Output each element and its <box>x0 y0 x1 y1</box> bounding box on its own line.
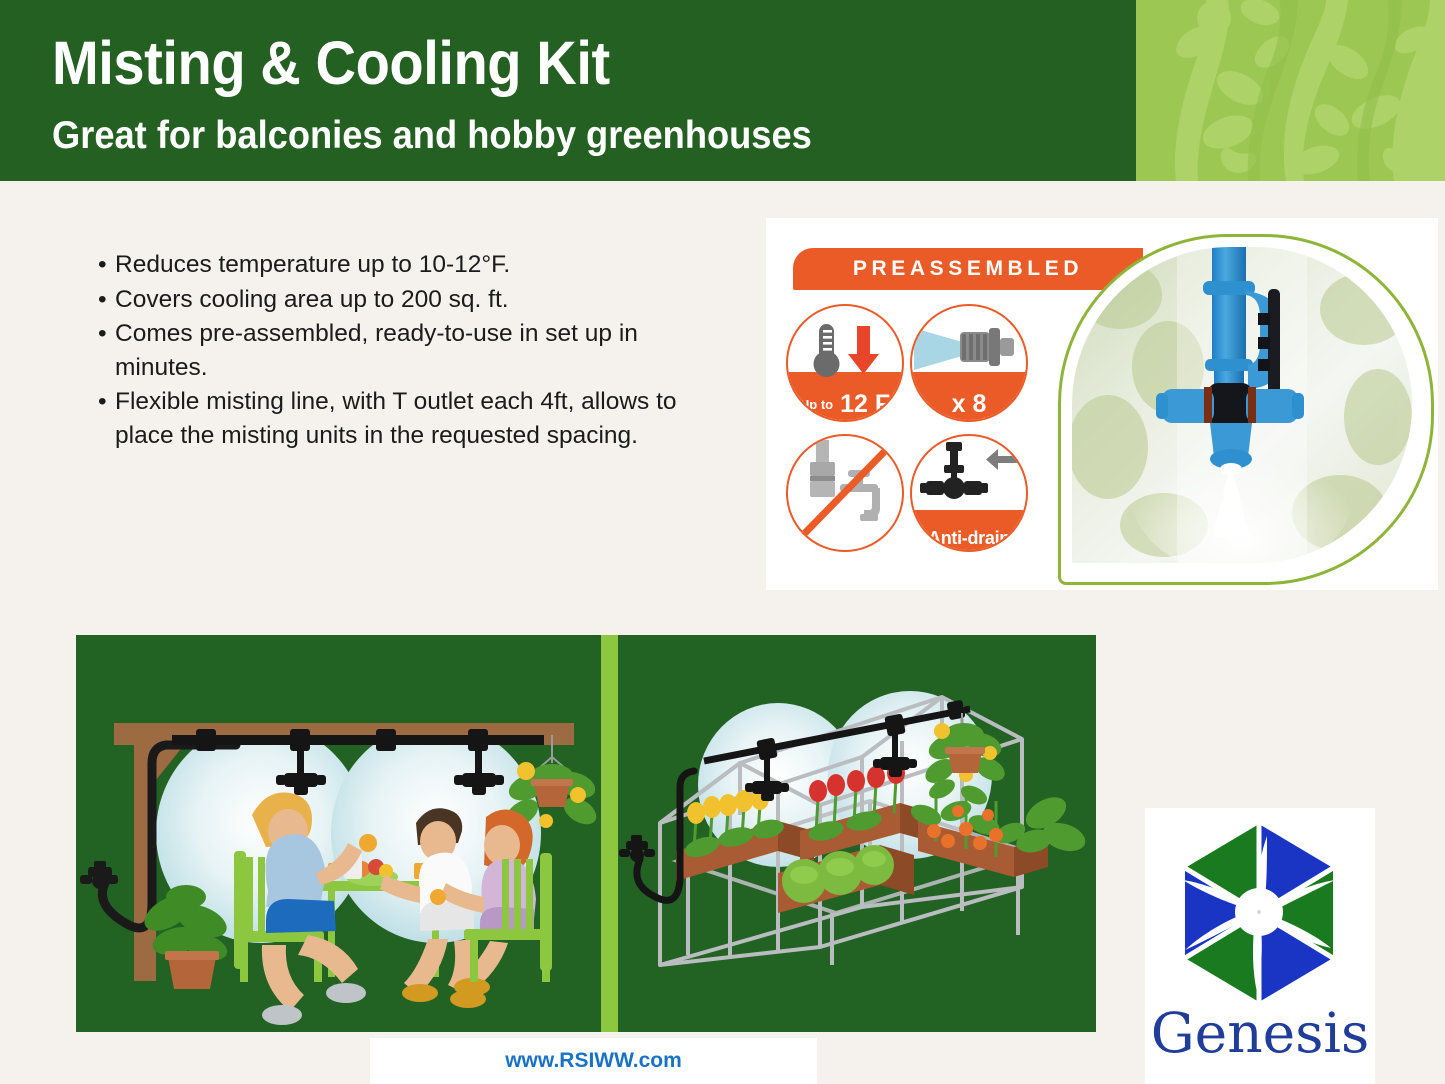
genesis-hexagon-icon <box>1163 818 1355 1010</box>
page-title: Misting & Cooling Kit <box>52 33 610 94</box>
page-header: Misting & Cooling Kit Great for balconie… <box>0 0 1445 181</box>
badge-label: Anti-drain <box>912 529 1026 547</box>
product-photo-image <box>1072 247 1412 563</box>
bullet-text: Reduces temperature up to 10-12°F. <box>115 248 698 282</box>
product-info-card: PREASSEMBLED <box>766 218 1438 590</box>
genesis-logo: Genesis <box>1145 808 1375 1084</box>
badge-label-prefix: Up to <box>800 397 833 412</box>
panel-divider <box>601 635 618 1032</box>
patio-illustration <box>76 635 601 1032</box>
no-tap-connection-icon <box>788 436 902 550</box>
badge-label: x 8 <box>912 392 1026 417</box>
patio-misting-scene <box>76 635 601 1032</box>
feature-badge-temperature: Up to 12 F <box>786 304 904 422</box>
bullet-dot-icon: • <box>98 385 115 419</box>
product-photo <box>1058 234 1428 579</box>
greenhouse-misting-scene <box>618 635 1096 1032</box>
bullet-text: Comes pre-assembled, ready-to-use in set… <box>115 317 698 384</box>
bullet-dot-icon: • <box>98 248 115 282</box>
misting-nozzle-photo <box>1072 247 1412 563</box>
badge-label-main: 12 F <box>840 390 890 418</box>
page-subtitle: Great for balconies and hobby greenhouse… <box>52 116 812 155</box>
feature-icon-grid: Up to 12 F x 8 <box>786 304 1046 564</box>
illustration-panels <box>76 635 1096 1032</box>
bullet-dot-icon: • <box>98 283 115 317</box>
header-leaf-panel <box>1136 0 1445 181</box>
bullet-text: Covers cooling area up to 200 sq. ft. <box>115 283 698 317</box>
feature-badge-anti-drain: Anti-drain <box>910 434 1028 552</box>
brand-name: Genesis <box>1145 1006 1375 1061</box>
feature-badge-nozzle-count: x 8 <box>910 304 1028 422</box>
list-item: • Covers cooling area up to 200 sq. ft. <box>98 283 698 317</box>
list-item: • Reduces temperature up to 10-12°F. <box>98 248 698 282</box>
greenhouse-illustration <box>618 635 1096 1032</box>
list-item: • Flexible misting line, with T outlet e… <box>98 385 698 452</box>
feature-badge-no-direct-tap <box>786 434 904 552</box>
leaf-pattern-icon <box>1136 0 1445 181</box>
badge-label: Up to 12 F <box>788 392 902 417</box>
website-band: www.RSIWW.com <box>370 1038 817 1084</box>
bullet-text: Flexible misting line, with T outlet eac… <box>115 385 698 452</box>
preassembled-label: PREASSEMBLED <box>853 257 1083 281</box>
feature-bullet-list: • Reduces temperature up to 10-12°F. • C… <box>98 248 698 453</box>
list-item: • Comes pre-assembled, ready-to-use in s… <box>98 317 698 384</box>
website-link[interactable]: www.RSIWW.com <box>505 1049 682 1073</box>
bullet-dot-icon: • <box>98 317 115 351</box>
